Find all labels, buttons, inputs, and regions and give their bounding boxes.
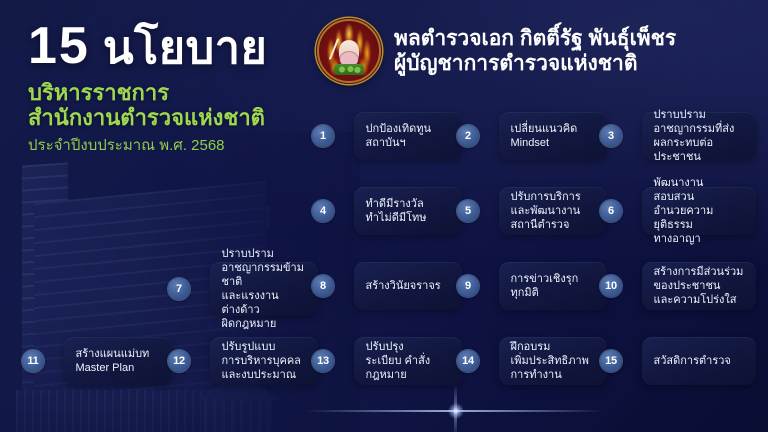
subtitle-line-1: บริหารราชการ	[28, 80, 328, 105]
policy-item-1[interactable]: 1 ปกป้องเทิดทูน สถาบันฯ	[312, 112, 462, 160]
policy-item-3[interactable]: 3 ปราบปราม อาชญากรรมที่ส่ง ผลกระทบต่อประ…	[600, 112, 756, 160]
lens-flare-glint	[455, 410, 457, 412]
officer-name-block: พลตำรวจเอก กิตติ์รัฐ พันธุ์เพ็ชร ผู้บัญช…	[394, 26, 676, 76]
policy-number-badge: 1	[312, 125, 334, 147]
flare-vertical-beam	[454, 384, 457, 432]
policy-number-badge: 8	[312, 275, 334, 297]
policy-card[interactable]: เปลี่ยนแนวคิด Mindset	[499, 112, 607, 160]
policy-card[interactable]: พัฒนางานสอบสวน อำนวยความยุติธรรม ทางอาญา	[642, 187, 756, 235]
subtitle-line-3: ประจำปีงบประมาณ พ.ศ. 2568	[28, 137, 328, 155]
policy-item-7[interactable]: 7 ปราบปราม อาชญากรรมข้ามชาติ และแรงงานต่…	[168, 262, 318, 316]
building-roof	[120, 206, 270, 244]
policy-text: การข่าวเชิงรุก ทุกมิติ	[511, 272, 579, 300]
policy-number-badge: 15	[600, 350, 622, 372]
policy-card[interactable]: ปราบปราม อาชญากรรมที่ส่ง ผลกระทบต่อประชา…	[642, 112, 756, 160]
policy-card[interactable]: ปรับการบริการ และพัฒนางาน สถานีตำรวจ	[499, 187, 607, 235]
policy-card[interactable]: ทำดีมีรางวัล ทำไม่ดีมีโทษ	[354, 187, 462, 235]
policy-number-badge: 14	[457, 350, 479, 372]
policy-number-badge: 2	[457, 125, 479, 147]
policy-text: สร้างแผนแม่บท Master Plan	[76, 347, 150, 375]
policy-number-badge: 12	[168, 350, 190, 372]
policy-number-badge: 3	[600, 125, 622, 147]
policy-card[interactable]: สร้างการมีส่วนร่วม ของประชาชน และความโปร…	[642, 262, 756, 310]
policy-number-badge: 7	[168, 278, 190, 300]
policy-text: สร้างการมีส่วนร่วม ของประชาชน และความโปร…	[654, 265, 744, 307]
policy-text: เปลี่ยนแนวคิด Mindset	[511, 122, 578, 150]
policy-card[interactable]: สร้างแผนแม่บท Master Plan	[64, 337, 172, 385]
policy-item-14[interactable]: 14 ฝึกอบรม เพิ่มประสิทธิภาพ การทำงาน	[457, 337, 607, 385]
policy-text: พัฒนางานสอบสวน อำนวยความยุติธรรม ทางอาญา	[654, 176, 744, 246]
policy-card[interactable]: สวัสดิการตำรวจ	[642, 337, 756, 385]
policy-number-badge: 9	[457, 275, 479, 297]
policy-number-badge: 4	[312, 200, 334, 222]
flare-core	[448, 403, 464, 419]
policy-card[interactable]: การข่าวเชิงรุก ทุกมิติ	[499, 262, 607, 310]
policy-text: ทำดีมีรางวัล ทำไม่ดีมีโทษ	[366, 197, 427, 225]
officer-rank: ผู้บัญชาการตำรวจแห่งชาติ	[394, 51, 676, 76]
policy-item-8[interactable]: 8 สร้างวินัยจราจร	[312, 262, 462, 310]
policy-text: สร้างวินัยจราจร	[366, 279, 441, 293]
officer-name: พลตำรวจเอก กิตติ์รัฐ พันธุ์เพ็ชร	[394, 26, 676, 51]
policy-text: ปราบปราม อาชญากรรมข้ามชาติ และแรงงานต่าง…	[222, 247, 306, 331]
title-number: 15	[28, 17, 90, 75]
page-title: 15 นโยบาย	[28, 22, 328, 72]
policy-text: ปรับรูปแบบ การบริหารบุคคล และงบประมาณ	[222, 340, 301, 382]
policy-item-6[interactable]: 6 พัฒนางานสอบสวน อำนวยความยุติธรรม ทางอา…	[600, 187, 756, 235]
infographic-canvas: 15 นโยบาย บริหารราชการ สำนักงานตำรวจแห่ง…	[0, 0, 768, 432]
policy-item-5[interactable]: 5 ปรับการบริการ และพัฒนางาน สถานีตำรวจ	[457, 187, 607, 235]
policy-item-11[interactable]: 11 สร้างแผนแม่บท Master Plan	[22, 337, 172, 385]
policy-text: ฝึกอบรม เพิ่มประสิทธิภาพ การทำงาน	[511, 340, 589, 382]
policy-item-13[interactable]: 13 ปรับปรุง ระเบียบ คำสั่ง กฎหมาย	[312, 337, 462, 385]
policy-card[interactable]: สร้างวินัยจราจร	[354, 262, 462, 310]
policy-number-badge: 10	[600, 275, 622, 297]
policy-card[interactable]: ปราบปราม อาชญากรรมข้ามชาติ และแรงงานต่าง…	[210, 262, 318, 316]
policy-item-12[interactable]: 12 ปรับรูปแบบ การบริหารบุคคล และงบประมาณ	[168, 337, 318, 385]
policy-item-2[interactable]: 2 เปลี่ยนแนวคิด Mindset	[457, 112, 607, 160]
policy-text: ปรับปรุง ระเบียบ คำสั่ง กฎหมาย	[366, 340, 431, 382]
policy-number-badge: 13	[312, 350, 334, 372]
flare-horizontal-beam	[305, 410, 605, 412]
policy-card[interactable]: ฝึกอบรม เพิ่มประสิทธิภาพ การทำงาน	[499, 337, 607, 385]
subtitle-line-2: สำนักงานตำรวจแห่งชาติ	[28, 105, 328, 130]
policy-item-4[interactable]: 4 ทำดีมีรางวัล ทำไม่ดีมีโทษ	[312, 187, 462, 235]
officer-header: พลตำรวจเอก กิตติ์รัฐ พันธุ์เพ็ชร ผู้บัญช…	[316, 18, 676, 84]
policy-card[interactable]: ปรับปรุง ระเบียบ คำสั่ง กฎหมาย	[354, 337, 462, 385]
policy-text: ปกป้องเทิดทูน สถาบันฯ	[366, 122, 432, 150]
pavilion-body	[204, 399, 272, 432]
title-word: นโยบาย	[103, 22, 268, 73]
policy-item-15[interactable]: 15 สวัสดิการตำรวจ	[600, 337, 756, 385]
policy-text: ปราบปราม อาชญากรรมที่ส่ง ผลกระทบต่อประชา…	[654, 108, 744, 164]
policy-item-10[interactable]: 10 สร้างการมีส่วนร่วม ของประชาชน และความ…	[600, 262, 756, 310]
policy-number-badge: 6	[600, 200, 622, 222]
policy-text: ปรับการบริการ และพัฒนางาน สถานีตำรวจ	[511, 190, 581, 232]
policy-text: สวัสดิการตำรวจ	[654, 354, 731, 368]
policy-number-badge: 5	[457, 200, 479, 222]
policy-card[interactable]: ปกป้องเทิดทูน สถาบันฯ	[354, 112, 462, 160]
policy-number-badge: 11	[22, 350, 44, 372]
emblem-ring	[317, 19, 381, 83]
policy-item-9[interactable]: 9 การข่าวเชิงรุก ทุกมิติ	[457, 262, 607, 310]
royal-thai-police-emblem-icon	[316, 18, 382, 84]
title-block: 15 นโยบาย บริหารราชการ สำนักงานตำรวจแห่ง…	[28, 22, 328, 155]
policy-card[interactable]: ปรับรูปแบบ การบริหารบุคคล และงบประมาณ	[210, 337, 318, 385]
building-lower-block	[16, 390, 266, 432]
